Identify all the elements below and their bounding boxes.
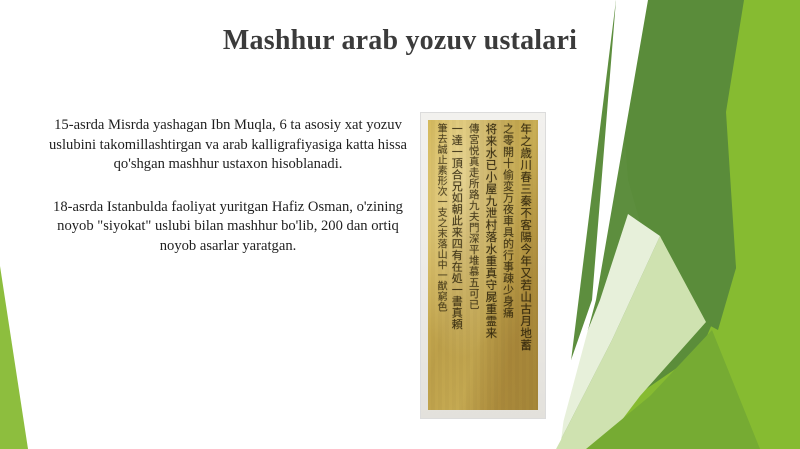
scroll-column-2: 之零開十偷変万夜車具的行事疎少身痛 <box>502 123 513 319</box>
pale-green-wedge-visible <box>556 240 706 449</box>
paragraph-hafiz-osman: 18-asrda Istanbulda faoliyat yuritgan Ha… <box>48 198 408 257</box>
page-title: Mashhur arab yozuv ustalari <box>120 24 680 58</box>
white-sliver <box>540 0 648 449</box>
lower-pale-green-wedge <box>556 236 704 449</box>
scroll-column-5: 一達一頂合兄如朝此来四有在処一書真頼 <box>451 123 462 330</box>
presentation-slide: Mashhur arab yozuv ustalari 15-asrda Mis… <box>0 0 800 449</box>
pale-edge-sliver <box>540 214 660 449</box>
scroll-column-1: 年之歳川春三秦不客陽今年又若山古月地蓄 <box>519 123 531 351</box>
scroll-paper: 年之歳川春三秦不客陽今年又若山古月地蓄 之零開十偷変万夜車具的行事疎少身痛 将来… <box>428 120 538 410</box>
scroll-glyph-columns: 年之歳川春三秦不客陽今年又若山古月地蓄 之零開十偷変万夜車具的行事疎少身痛 将来… <box>428 120 538 410</box>
bottom-left-green-triangle <box>0 266 28 449</box>
scroll-column-6: 筆去誠止素形次一支之末落山中一猷窮色 <box>435 123 445 312</box>
paragraph-ibn-muqla: 15-asrda Misrda yashagan Ibn Muqla, 6 ta… <box>48 116 408 175</box>
calligraphy-scroll-image: 年之歳川春三秦不客陽今年又若山古月地蓄 之零開十偷変万夜車具的行事疎少身痛 将来… <box>420 112 546 419</box>
scroll-column-3: 将来水已小屋九泄村落水重真守屍重霊来 <box>485 123 497 339</box>
scroll-column-4: 傳宮悦真走所路九夫門深平堆慕五可已 <box>468 123 479 310</box>
body-text-block: 15-asrda Misrda yashagan Ibn Muqla, 6 ta… <box>48 116 408 257</box>
dark-green-diagonal-wedge <box>560 0 736 449</box>
right-bright-green-band <box>612 0 800 449</box>
bottom-right-green-triangle <box>586 330 760 449</box>
far-right-lime-band <box>660 0 800 449</box>
